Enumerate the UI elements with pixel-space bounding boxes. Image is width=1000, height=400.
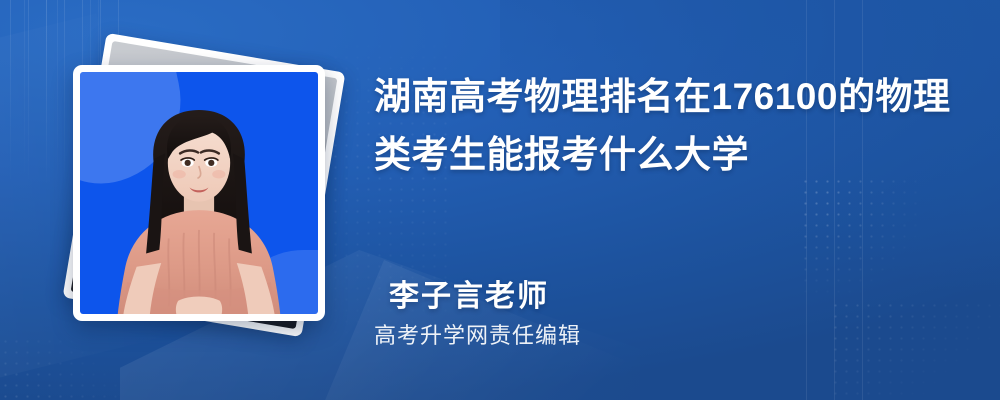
background-dot-grid-right-bottom: [830, 300, 1000, 400]
page-title: 湖南高考物理排名在176100的物理类考生能报考什么大学: [374, 68, 974, 184]
author-photo: [80, 72, 318, 314]
author-role: 高考升学网责任编辑: [374, 318, 581, 350]
background-dot-grid-right-top: [800, 176, 930, 296]
portrait-illustration: [80, 72, 318, 314]
photo-card-front: [73, 65, 325, 321]
article-header-banner: 湖南高考物理排名在176100的物理类考生能报考什么大学 李子言老师 高考升学网…: [0, 0, 1000, 400]
author-name: 李子言老师: [389, 271, 549, 315]
photo-card-stack: [55, 45, 355, 355]
